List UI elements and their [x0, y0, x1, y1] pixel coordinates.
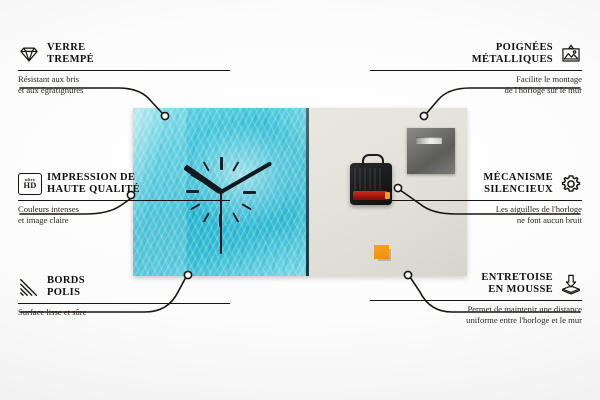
feature-divider: [370, 70, 582, 71]
feature-verre-trempe[interactable]: VERRE TREMPÉ Résistant aux bris et aux é…: [18, 42, 230, 95]
feature-title-line2: POLIS: [47, 287, 85, 299]
feature-sub-line1: Couleurs intenses: [18, 204, 230, 215]
feature-title-line1: ENTRETOISE: [481, 272, 553, 284]
feature-entretoise-en-mousse[interactable]: ENTRETOISE EN MOUSSE Permet de maintenir…: [370, 272, 582, 325]
framed-picture-hook-icon: [560, 43, 582, 65]
feature-divider: [18, 200, 230, 201]
feature-bords-polis[interactable]: BORDS POLIS Surface lisse et sûre: [18, 275, 230, 318]
feature-mecanisme-silencieux[interactable]: MÉCANISME SILENCIEUX Les aiguilles de l'…: [370, 172, 582, 225]
feature-sub-line2: et image claire: [18, 215, 230, 226]
feature-sub-line2: et aux égratignures: [18, 85, 230, 96]
feature-title-line1: IMPRESSION DE: [47, 172, 140, 184]
gear-icon: [560, 173, 582, 195]
diamond-icon: [18, 43, 40, 65]
metal-hanger-bracket: [407, 128, 455, 174]
feature-sub-line1: Les aiguilles de l'horloge: [370, 204, 582, 215]
polished-edge-icon: [18, 276, 40, 298]
feature-title-line1: POIGNÉES: [472, 42, 553, 54]
feature-sub-line2: uniforme entre l'horloge et le mur: [370, 315, 582, 326]
feature-title-line2: EN MOUSSE: [481, 284, 553, 296]
feature-divider: [370, 300, 582, 301]
feature-divider: [370, 200, 582, 201]
feature-title-line2: MÉTALLIQUES: [472, 54, 553, 66]
feature-sub-line2: de l'horloge sur le mur: [370, 85, 582, 96]
feature-title-line1: BORDS: [47, 275, 85, 287]
foam-spacer: [374, 245, 389, 259]
hanging-loop: [362, 154, 384, 167]
feature-sub-line1: Surface lisse et sûre: [18, 307, 230, 318]
infographic-canvas: VERRE TREMPÉ Résistant aux bris et aux é…: [0, 0, 600, 400]
feature-title-line1: MÉCANISME: [483, 172, 553, 184]
feature-sub-line1: Facilite le montage: [370, 74, 582, 85]
feature-sub-line2: ne font aucun bruit: [370, 215, 582, 226]
feature-sub-line1: Permet de maintenir une distance: [370, 304, 582, 315]
feature-title-line2: TREMPÉ: [47, 54, 94, 66]
ultra-hd-icon-main-text: HD: [24, 182, 37, 190]
hanger-slot: [416, 137, 442, 144]
feature-sub-line1: Résistant aux bris: [18, 74, 230, 85]
feature-divider: [18, 70, 230, 71]
foam-spacer-arrow-icon: [560, 273, 582, 295]
feature-impression-haute-qualite[interactable]: ultra HD IMPRESSION DE HAUTE QUALITÉ Cou…: [18, 172, 230, 225]
feature-title-line2: SILENCIEUX: [483, 184, 553, 196]
feature-divider: [18, 303, 230, 304]
feature-poignees-metalliques[interactable]: POIGNÉES MÉTALLIQUES Facilite le montage…: [370, 42, 582, 95]
feature-title-line1: VERRE: [47, 42, 94, 54]
ultra-hd-icon: ultra HD: [18, 173, 40, 195]
feature-title-line2: HAUTE QUALITÉ: [47, 184, 140, 196]
